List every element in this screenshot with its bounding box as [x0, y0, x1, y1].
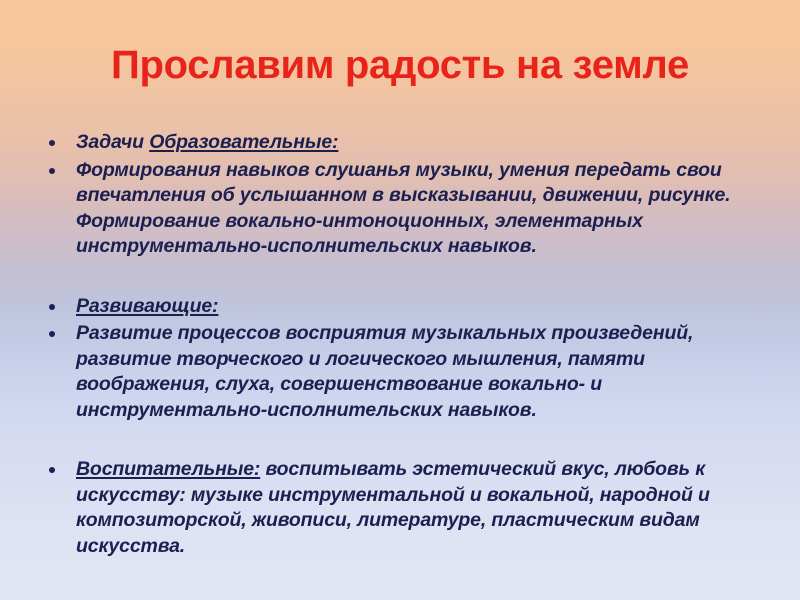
presentation-slide: Прославим радость на земле Задачи Образо… [0, 0, 800, 600]
bullet-dot-icon [49, 140, 55, 146]
list-item: Задачи Образовательные: [40, 130, 756, 156]
list-item: Формирования навыков слушанья музыки, ум… [40, 158, 756, 260]
list-item-text: Формирования навыков слушанья музыки, ум… [76, 158, 756, 260]
page-title: Прославим радость на земле [111, 44, 689, 87]
body-placeholder: Задачи Образовательные:Формирования навы… [40, 130, 756, 561]
bullet-dot-icon [49, 304, 55, 310]
list-item-text: Развитие процессов восприятия музыкальны… [76, 321, 756, 423]
bullet-dot-icon [49, 467, 55, 473]
text-segment-underlined: Образовательные: [149, 131, 338, 153]
list-item-text: Задачи Образовательные: [76, 130, 756, 156]
bullet-dot-icon [49, 331, 55, 337]
text-segment: Формирования навыков слушанья музыки, ум… [76, 159, 730, 258]
group-spacer [40, 425, 756, 457]
text-segment: Задачи [76, 131, 149, 153]
bullet-group-educational: Задачи Образовательные:Формирования навы… [40, 130, 756, 260]
list-item: Развивающие: [40, 294, 756, 320]
list-item: Развитие процессов восприятия музыкальны… [40, 321, 756, 423]
bullet-dot-icon [49, 168, 55, 174]
group-spacer [40, 262, 756, 294]
bullet-group-developmental: Развивающие:Развитие процессов восприяти… [40, 294, 756, 424]
list-item: Воспитательные: воспитывать эстетический… [40, 457, 756, 559]
text-segment-underlined: Воспитательные: [76, 458, 260, 480]
title-placeholder: Прославим радость на земле [0, 44, 800, 87]
text-segment-underlined: Развивающие: [76, 295, 218, 317]
bullet-group-upbringing: Воспитательные: воспитывать эстетический… [40, 457, 756, 559]
list-item-text: Воспитательные: воспитывать эстетический… [76, 457, 756, 559]
text-segment: Развитие процессов восприятия музыкальны… [76, 322, 693, 421]
list-item-text: Развивающие: [76, 294, 756, 320]
